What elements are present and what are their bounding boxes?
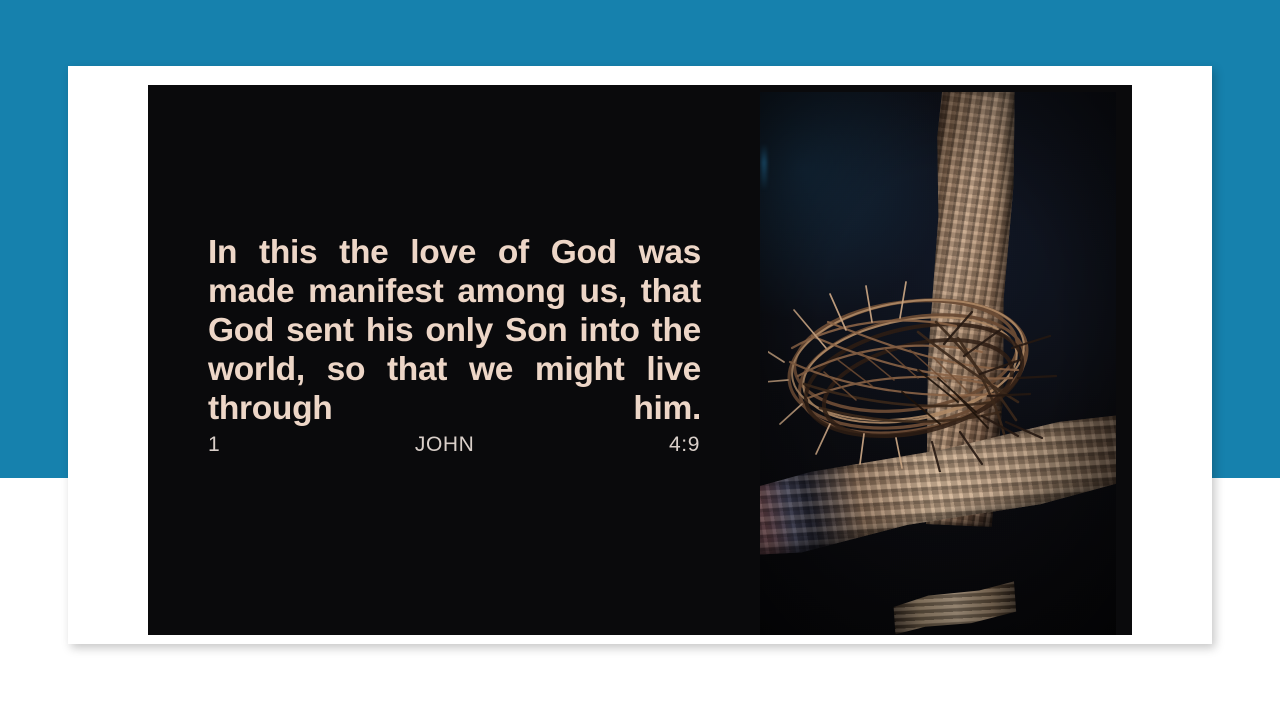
citation-reference: 4:9: [669, 433, 700, 457]
citation-book-name: JOHN: [415, 433, 475, 457]
slide-card: In this the love of God was made manifes…: [68, 66, 1212, 644]
slide-content-panel: In this the love of God was made manifes…: [148, 85, 1132, 635]
crown-of-thorns-on-cross-photo: [760, 92, 1116, 635]
crown-of-thorns: [768, 252, 1058, 472]
slide-stage: In this the love of God was made manifes…: [0, 0, 1280, 720]
verse-text: In this the love of God was made manifes…: [208, 233, 701, 428]
verse-citation: 1 JOHN 4:9: [208, 433, 701, 457]
citation-book-number: 1: [208, 433, 220, 457]
photo-blue-highlight: [761, 144, 767, 190]
crown-of-thorns-icon: [768, 252, 1058, 472]
verse-block: In this the love of God was made manifes…: [208, 233, 701, 457]
